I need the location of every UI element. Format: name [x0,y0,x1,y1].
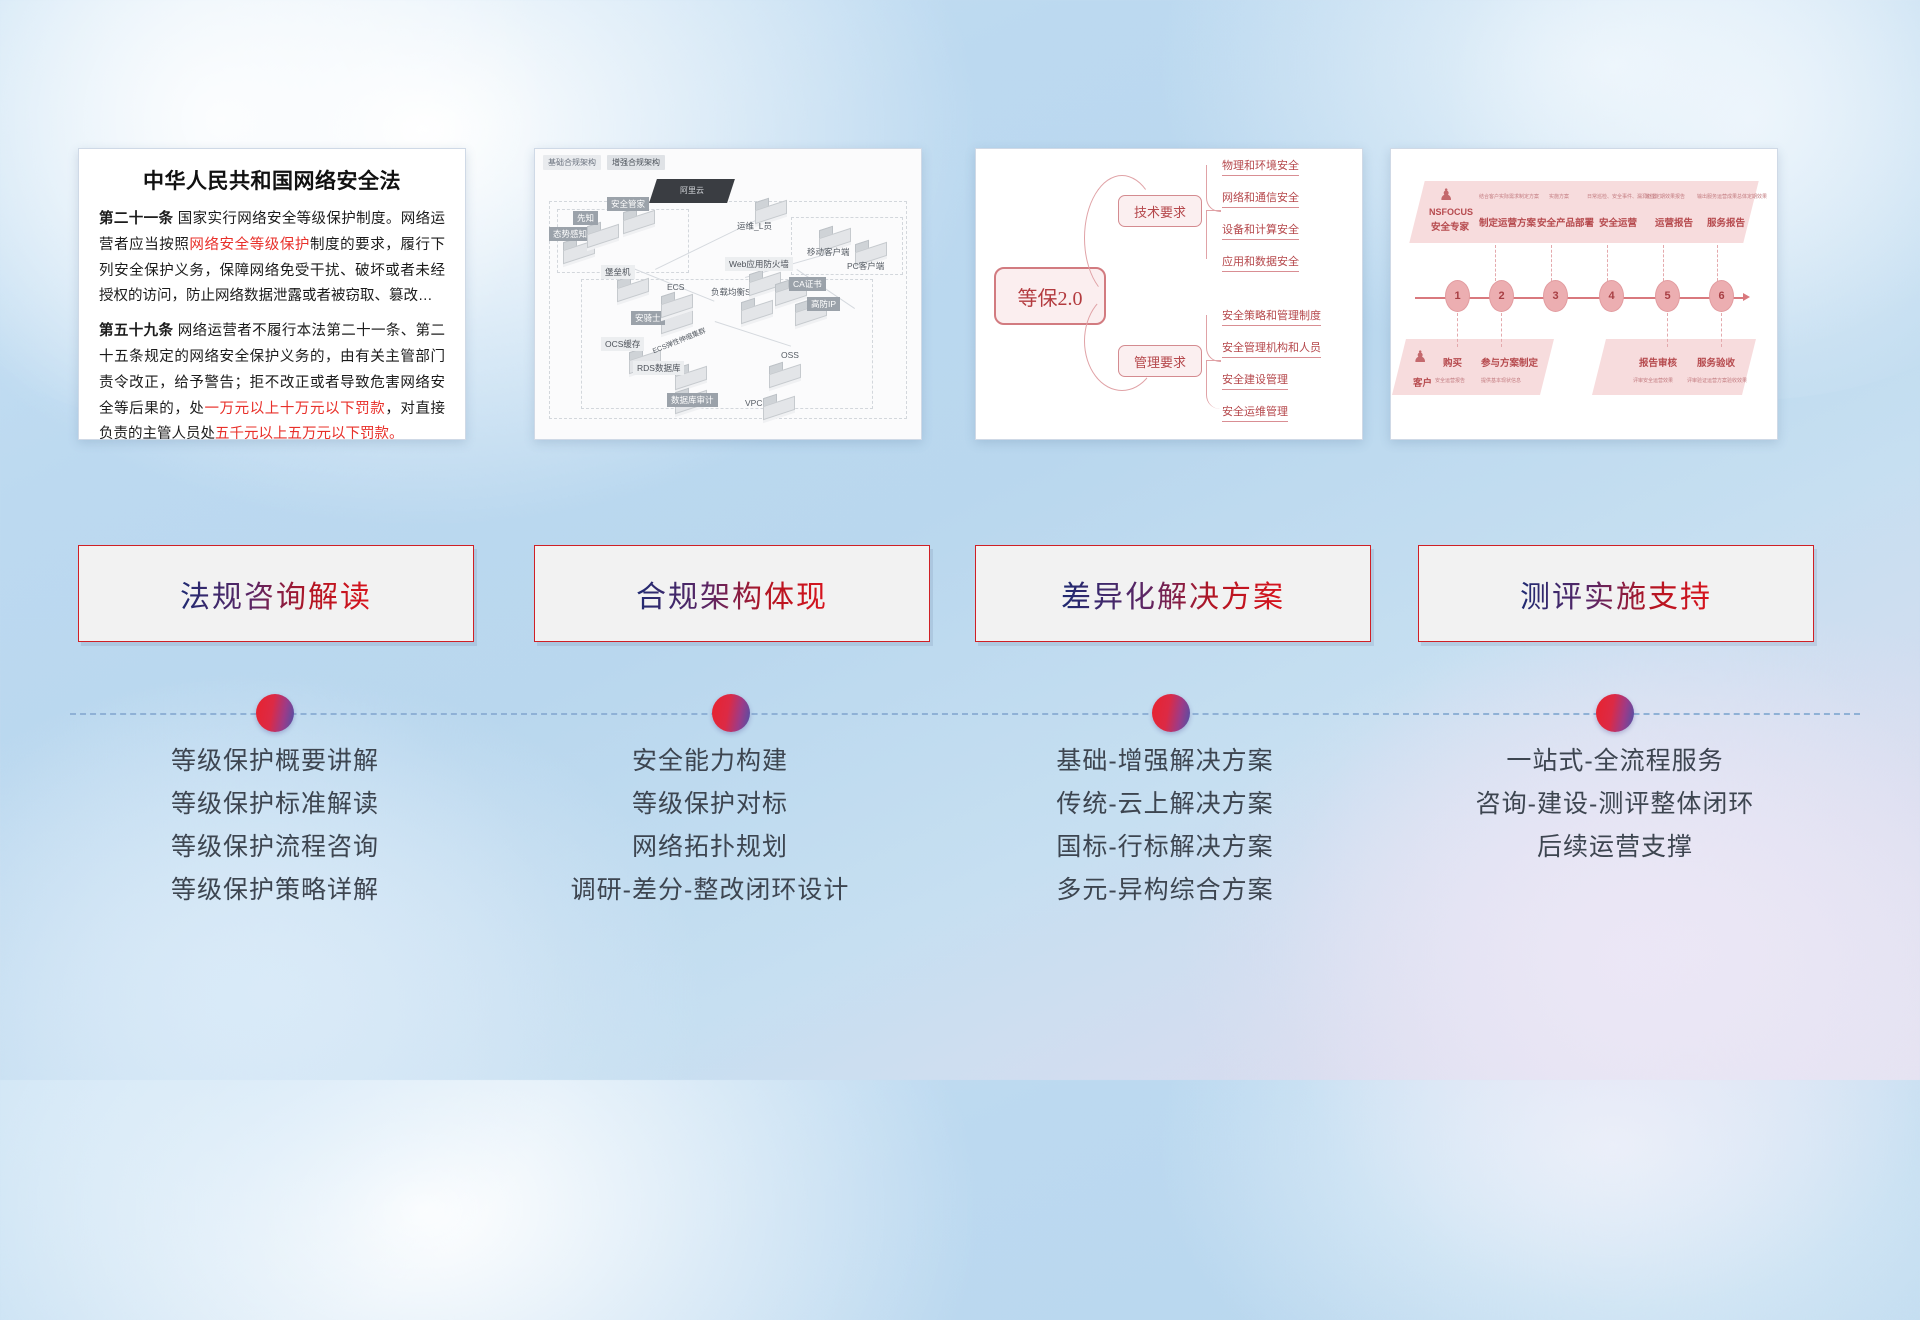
tick-3 [1551,245,1553,281]
mindmap-canvas: 等保2.0 技术要求 管理要求 物理和环境安全 网络和通信安全 设备和计算安全 … [976,149,1362,439]
list-item: 多元-异构综合方案 [945,869,1385,912]
node-label-ca: CA证书 [789,277,826,291]
node-label-pc-client: PC客户端 [843,259,888,273]
label-row: 法规咨询解读 合规架构体现 差异化解决方案 测评实施支持 [0,545,1920,650]
step-marker-5: 5 [1655,280,1680,312]
top-step-2-sub: 实施方案 [1549,193,1569,200]
bottom-step-4-sub: 评审验证运营方案验收效果 [1687,377,1747,384]
card-law-text: 中华人民共和国网络安全法 第二十一条 国家实行网络安全等级保护制度。网络运营者应… [78,148,466,440]
list-item: 国标-行标解决方案 [945,826,1385,869]
step-marker-3: 3 [1543,280,1568,312]
list-item: 咨询-建设-测评整体闭环 [1395,783,1835,826]
timeline-dot-3[interactable] [1152,694,1190,732]
node-label-bastion: 堡垒机 [601,265,635,279]
mindmap-connector-tech [1206,165,1221,212]
list-item: 后续运营支撑 [1395,826,1835,869]
step-marker-4: 4 [1599,280,1624,312]
bottom-step-2-sub: 提供基本现状信息 [1481,377,1521,384]
architecture-canvas: 基础合规架构 增强合规架构 阿里云 态势感知 先知 安全管家 [535,149,921,439]
list-item: 等级保护策略详解 [55,869,495,912]
top-step-4-main: 运营报告 [1655,215,1693,229]
top-step-1-sub: 结合客户实际需求制定方案 [1479,193,1539,200]
list-column-compliance-architecture: 安全能力构建 等级保护对标 网络拓扑规划 调研-差分-整改闭环设计 [490,740,930,912]
mindmap-connector-mgmt2 [1206,360,1221,409]
list-row: 等级保护概要讲解 等级保护标准解读 等级保护流程咨询 等级保护策略详解 安全能力… [0,740,1920,970]
tick-4 [1607,245,1609,281]
expert-name: NSFOCUS [1429,207,1473,217]
bottom-step-1-sub: 安全运营报告 [1435,377,1465,384]
law-article-21-highlight: 网络安全等级保护 [189,237,310,253]
mindmap-leaf-mgmt-1: 安全策略和管理制度 [1222,307,1321,326]
timeline-arrow-icon [1743,293,1750,301]
node-label-ecs: ECS [663,281,688,293]
expert-person-icon: ♟ [1439,185,1453,205]
cloud-banner-label: 阿里云 [653,179,731,203]
label-text-assessment-support: 测评实施支持 [1520,572,1712,616]
label-box-regulation-consulting[interactable]: 法规咨询解读 [78,545,474,642]
customer-person-icon: ♟ [1413,347,1427,367]
tick-b6 [1721,313,1723,347]
bottom-step-1-main: 购买 [1443,355,1462,369]
service-timeline-canvas: ♟ NSFOCUS 安全专家 结合客户实际需求制定方案 制定运营方案 实施方案 … [1391,149,1777,439]
law-article-59: 第五十九条 网络运营者不履行本法第二十一条、第二十五条规定的网络安全保护义务的，… [99,319,445,440]
card-row: 中华人民共和国网络安全法 第二十一条 国家实行网络安全等级保护制度。网络运营者应… [0,148,1920,444]
list-column-assessment-support: 一站式-全流程服务 咨询-建设-测评整体闭环 后续运营支撑 [1395,740,1835,869]
tab-basic-architecture[interactable]: 基础合规架构 [543,155,601,170]
tick-6 [1717,245,1719,281]
node-label-db-audit: 数据库审计 [667,393,718,407]
bottom-step-2-main: 参与方案制定 [1481,355,1538,369]
step-marker-2: 2 [1489,280,1514,312]
mindmap-leaf-mgmt-4: 安全运维管理 [1222,403,1288,422]
tick-b5 [1667,313,1669,347]
label-box-assessment-support[interactable]: 测评实施支持 [1418,545,1814,642]
list-item: 安全能力构建 [490,740,930,783]
timeline-dot-1[interactable] [256,694,294,732]
tick-2 [1495,245,1497,281]
node-label-ops-staff: 运维_L员 [733,219,776,233]
list-item: 等级保护标准解读 [55,783,495,826]
mindmap-curve-tech [1084,175,1160,301]
law-article-21: 第二十一条 国家实行网络安全等级保护制度。网络运营者应当按照网络安全等级保护制度… [99,207,445,310]
law-document: 中华人民共和国网络安全法 第二十一条 国家实行网络安全等级保护制度。网络运营者应… [79,149,465,439]
mindmap-leaf-mgmt-2: 安全管理机构和人员 [1222,339,1321,358]
top-step-5-main: 服务报告 [1707,215,1745,229]
mindmap-branch-management: 管理要求 [1118,345,1202,377]
mindmap-leaf-tech-3: 设备和计算安全 [1222,221,1299,240]
tick-5 [1663,245,1665,281]
step-marker-1: 1 [1445,280,1470,312]
list-item: 基础-增强解决方案 [945,740,1385,783]
node-label-vpc: VPC [741,397,766,409]
list-column-regulation-consulting: 等级保护概要讲解 等级保护标准解读 等级保护流程咨询 等级保护策略详解 [55,740,495,912]
top-step-3-main: 安全运营 [1599,215,1637,229]
mindmap-leaf-mgmt-3: 安全建设管理 [1222,371,1288,390]
node-icon-slb [739,297,773,323]
node-label-security-butler: 安全管家 [607,197,649,211]
tick-b2 [1501,313,1503,347]
list-column-differentiated-solution: 基础-增强解决方案 传统-云上解决方案 国标-行标解决方案 多元-异构综合方案 [945,740,1385,912]
list-item: 调研-差分-整改闭环设计 [490,869,930,912]
top-step-2-main: 安全产品部署 [1537,215,1594,229]
top-step-5-sub: 输出服务运营成果总体定期效果 [1697,193,1767,200]
node-label-ocs: OCS缓存 [601,337,644,351]
law-article-59-number: 第五十九条 [99,323,173,339]
top-step-1-main: 制定运营方案 [1479,215,1536,229]
cloud-banner: 阿里云 [649,179,735,203]
timeline-row [0,694,1920,734]
top-step-4-sub: 定位定期效果报告 [1645,193,1685,200]
node-label-mobile-client: 移动客户端 [803,245,854,259]
list-item: 等级保护流程咨询 [55,826,495,869]
label-box-compliance-architecture[interactable]: 合规架构体现 [534,545,930,642]
node-label-xianzhi: 先知 [573,211,598,225]
step-marker-6: 6 [1709,280,1734,312]
card-architecture-diagram: 基础合规架构 增强合规架构 阿里云 态势感知 先知 安全管家 [534,148,922,440]
label-text-compliance-architecture: 合规架构体现 [636,572,828,616]
node-icon-ecs [659,291,693,317]
node-label-waf: Web应用防火墙 [725,257,793,271]
node-label-oss: OSS [777,349,803,361]
list-item: 等级保护概要讲解 [55,740,495,783]
list-item: 传统-云上解决方案 [945,783,1385,826]
mindmap-leaf-tech-1: 物理和环境安全 [1222,157,1299,176]
list-item: 等级保护对标 [490,783,930,826]
node-icon-oss [767,361,801,387]
tab-enhanced-architecture[interactable]: 增强合规架构 [607,155,665,170]
label-text-differentiated-solution: 差异化解决方案 [1061,572,1285,616]
law-article-21-number: 第二十一条 [99,211,173,227]
card-mindmap: 等保2.0 技术要求 管理要求 物理和环境安全 网络和通信安全 设备和计算安全 … [975,148,1363,440]
bottom-step-4-main: 服务验收 [1697,355,1735,369]
label-text-regulation-consulting: 法规咨询解读 [180,572,372,616]
customer-role: 客户 [1413,375,1432,389]
mindmap-branch-technical: 技术要求 [1118,195,1202,227]
tick-b1 [1457,313,1459,347]
timeline-dot-2[interactable] [712,694,750,732]
label-box-differentiated-solution[interactable]: 差异化解决方案 [975,545,1371,642]
law-article-59-highlight-1: 一万元以上十万元以下罚款 [204,401,385,417]
law-title: 中华人民共和国网络安全法 [99,165,445,195]
slide-stage: 中华人民共和国网络安全法 第二十一条 国家实行网络安全等级保护制度。网络运营者应… [0,0,1920,1080]
timeline-dot-4[interactable] [1596,694,1634,732]
law-article-59-highlight-2: 五千元以上五万元以下罚款。 [215,426,404,440]
list-item: 一站式-全流程服务 [1395,740,1835,783]
node-label-rds: RDS数据库 [633,361,684,375]
mindmap-leaf-tech-2: 网络和通信安全 [1222,189,1299,208]
card-service-timeline: ♟ NSFOCUS 安全专家 结合客户实际需求制定方案 制定运营方案 实施方案 … [1390,148,1778,440]
bottom-step-3-main: 报告审核 [1639,355,1677,369]
bottom-step-3-sub: 评审安全运营效果 [1633,377,1673,384]
mindmap-leaf-tech-4: 应用和数据安全 [1222,253,1299,272]
node-label-antiddos: 高防IP [807,297,840,311]
mindmap-connector-tech2 [1206,210,1221,259]
expert-role: 安全专家 [1431,219,1469,233]
timeline-dashed-line [70,713,1860,715]
architecture-tabs: 基础合规架构 增强合规架构 [543,155,665,170]
list-item: 网络拓扑规划 [490,826,930,869]
mindmap-connector-mgmt [1206,315,1221,362]
